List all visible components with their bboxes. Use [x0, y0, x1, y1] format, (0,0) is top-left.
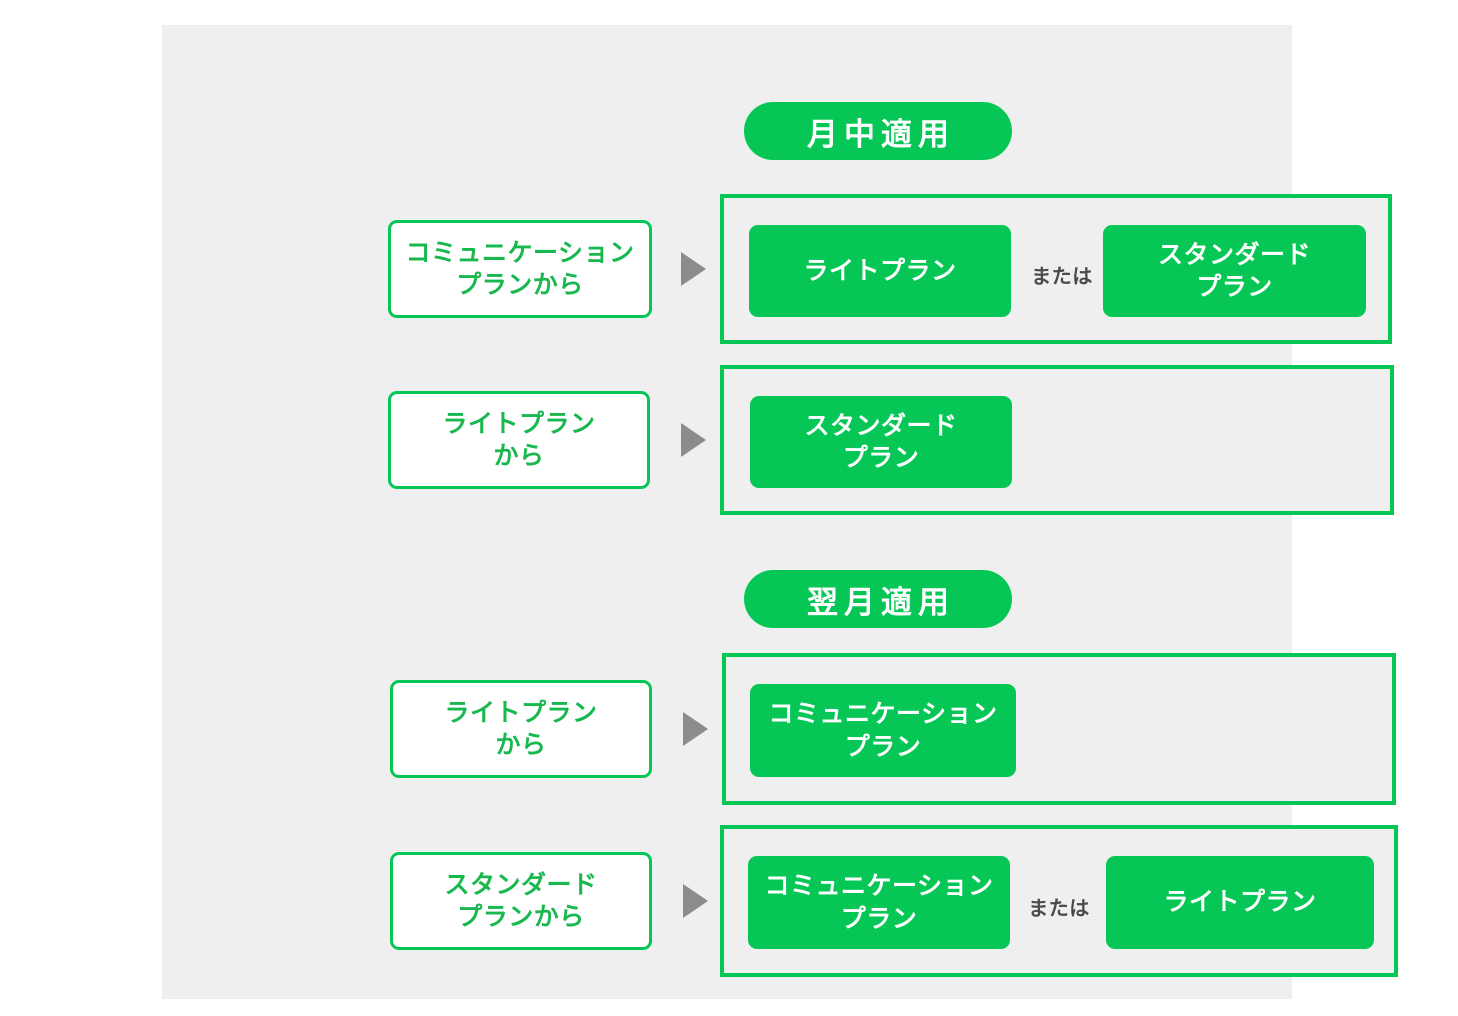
target-plan-line2: プラン: [845, 732, 922, 761]
from-plan-label: ライトプラン から: [444, 697, 597, 761]
from-plan-box: コミュニケーション プランから: [388, 220, 652, 318]
target-plan-line2: プラン: [1196, 272, 1273, 301]
target-plan-line1: スタンダード: [1158, 240, 1311, 269]
target-plan-line2: プラン: [843, 443, 920, 472]
section-badge-mid-month: 月中適用: [744, 102, 1012, 160]
from-plan-box: スタンダード プランから: [390, 852, 652, 950]
triangle-right-icon: [681, 252, 706, 286]
to-plan-container: スタンダード プラン: [720, 365, 1394, 515]
target-plan-chip: スタンダード プラン: [750, 396, 1012, 488]
triangle-right-icon: [683, 884, 708, 918]
target-plan-chip: コミュニケーション プラン: [748, 856, 1010, 949]
from-plan-line2: プランから: [457, 902, 585, 931]
from-plan-label: ライトプラン から: [442, 408, 595, 472]
to-plan-container: ライトプラン または スタンダード プラン: [720, 194, 1392, 344]
triangle-right-icon: [683, 712, 708, 746]
triangle-right-icon: [681, 423, 706, 457]
or-connector-label: または: [1024, 260, 1100, 289]
target-plan-label: スタンダード プラン: [1158, 239, 1311, 304]
target-plan-line1: ライトプラン: [1163, 887, 1316, 916]
section-badge-next-month: 翌月適用: [744, 570, 1012, 628]
from-plan-label: コミュニケーション プランから: [405, 237, 634, 301]
from-plan-box: ライトプラン から: [388, 391, 650, 489]
from-plan-box: ライトプラン から: [390, 680, 652, 778]
target-plan-line1: ライトプラン: [803, 256, 956, 285]
target-plan-chip: スタンダード プラン: [1103, 225, 1366, 317]
diagram-panel: 月中適用 コミュニケーション プランから ライトプラン または スタンダード プ…: [162, 25, 1292, 999]
from-plan-line2: プランから: [456, 270, 584, 299]
from-plan-line2: から: [495, 730, 546, 759]
target-plan-chip: ライトプラン: [749, 225, 1011, 317]
from-plan-label: スタンダード プランから: [444, 869, 597, 933]
target-plan-chip: コミュニケーション プラン: [750, 684, 1016, 777]
target-plan-line2: プラン: [841, 904, 918, 933]
target-plan-label: スタンダード プラン: [804, 410, 957, 475]
target-plan-label: ライトプラン: [1163, 886, 1316, 919]
to-plan-container: コミュニケーション プラン: [722, 653, 1396, 805]
target-plan-line1: スタンダード: [804, 411, 957, 440]
from-plan-line1: ライトプラン: [444, 698, 597, 727]
from-plan-line1: スタンダード: [444, 870, 597, 899]
from-plan-line2: から: [493, 441, 544, 470]
target-plan-label: コミュニケーション プラン: [768, 698, 997, 763]
from-plan-line1: ライトプラン: [442, 409, 595, 438]
target-plan-line1: コミュニケーション: [764, 871, 993, 900]
to-plan-container: コミュニケーション プラン または ライトプラン: [720, 825, 1398, 977]
target-plan-label: ライトプラン: [803, 255, 956, 288]
target-plan-label: コミュニケーション プラン: [764, 870, 993, 935]
from-plan-line1: コミュニケーション: [405, 238, 634, 267]
target-plan-line1: コミュニケーション: [768, 699, 997, 728]
target-plan-chip: ライトプラン: [1106, 856, 1374, 949]
or-connector-label: または: [1020, 892, 1098, 921]
